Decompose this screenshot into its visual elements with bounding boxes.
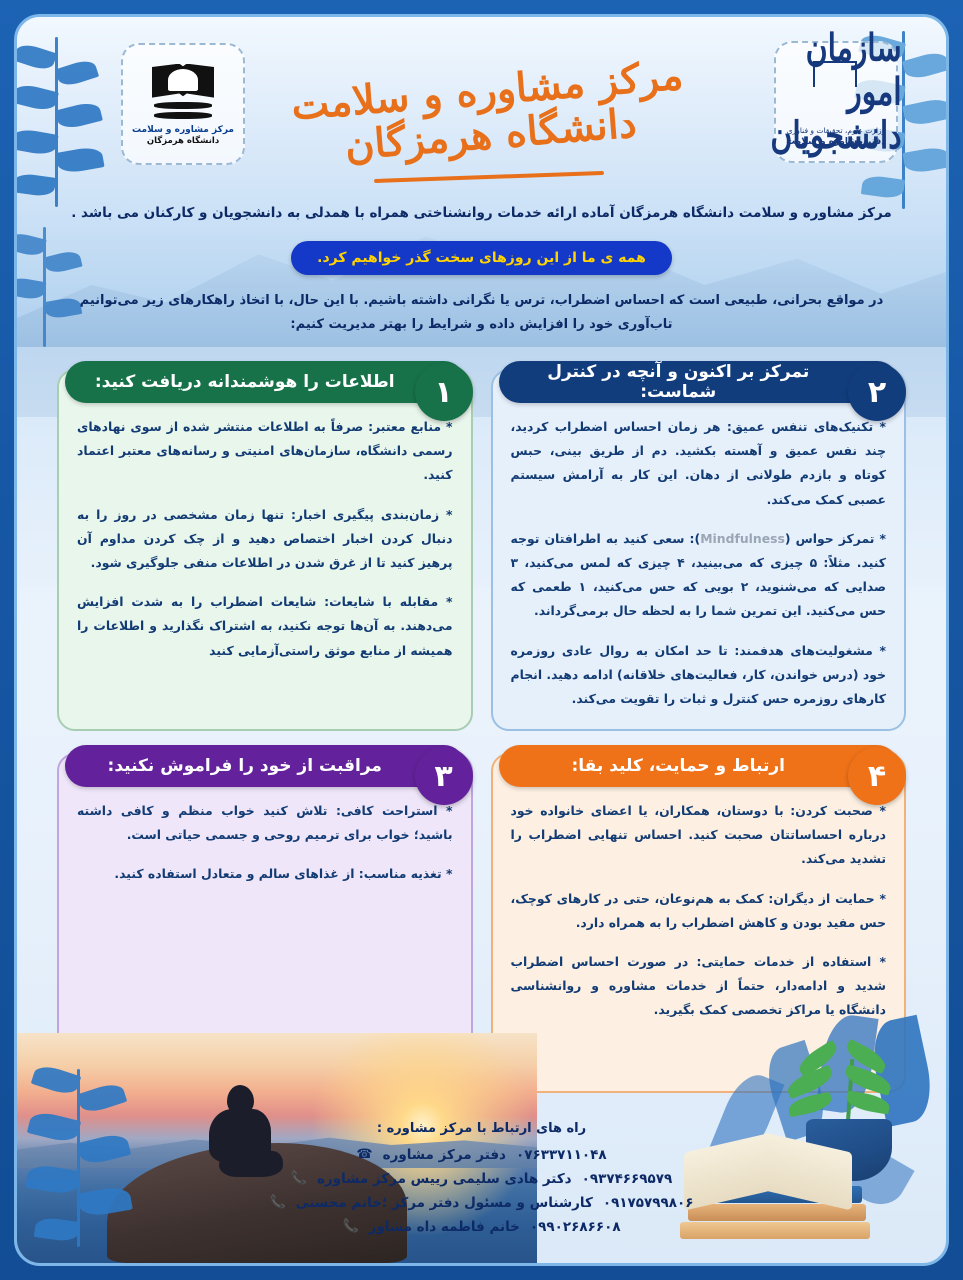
contact-phone-number[interactable]: ۰۹۳۷۴۶۶۹۵۷۹	[582, 1167, 673, 1191]
phone-handset-icon: 📞	[342, 1220, 358, 1233]
phone-handset-icon: 📞	[270, 1196, 286, 1209]
tip-card-2-paragraph-2: * تمرکز حواس (Mindfulness): سعی کنید به …	[511, 527, 887, 624]
tip-card-1-header: اطلاعات را هوشمندانه دریافت کنید:	[65, 361, 465, 403]
contact-phone-number[interactable]: ۰۹۱۷۵۷۹۹۸۰۶	[603, 1191, 694, 1215]
poster-inner-frame: مرکز مشاوره و سلامت دانشگاه هرمزگان سازم…	[14, 14, 949, 1266]
tip-card-4-paragraph-1: * صحبت کردن: با دوستان، همکاران، یا اعضا…	[511, 799, 887, 872]
contact-row: ۰۹۹۰۲۶۸۶۶۰۸ خانم فاطمه داه مشاور 📞	[57, 1215, 906, 1239]
tip-card-1-number: ۱	[415, 363, 473, 421]
contact-row: ۰۹۳۷۴۶۶۹۵۷۹ دکتر هادی سلیمی رییس مرکز مش…	[57, 1167, 906, 1191]
tips-card-grid: تمرکز بر اکنون و آنچه در کنترل شماست: ۲ …	[57, 369, 906, 1093]
tip-card-1: اطلاعات را هوشمندانه دریافت کنید: ۱ * من…	[57, 369, 473, 731]
tip-card-1-title: اطلاعات را هوشمندانه دریافت کنید:	[81, 372, 409, 392]
page-title-text: مرکز مشاوره و سلامت دانشگاه هرمزگان	[269, 52, 709, 174]
phone-handset-icon: 📞	[291, 1172, 307, 1185]
tip-card-1-paragraph-3: * مقابله با شایعات: شایعات اضطراب را به …	[77, 590, 453, 663]
tip-card-4-paragraph-3: * استفاده از خدمات حمایتی: در صورت احساس…	[511, 950, 887, 1023]
title-underline	[374, 171, 604, 183]
tip-card-3-body: * استراحت کافی: تلاش کنید خواب منظم و کا…	[77, 799, 453, 887]
latin-term: Mindfulness	[700, 531, 785, 546]
tip-card-2-number: ۲	[848, 363, 906, 421]
contact-label: خانم فاطمه داه مشاور	[369, 1215, 520, 1239]
page-title: مرکز مشاوره و سلامت دانشگاه هرمزگان	[272, 69, 706, 179]
tip-card-3-number: ۳	[415, 747, 473, 805]
intro-line-1: مرکز مشاوره و سلامت دانشگاه هرمزگان آماد…	[63, 203, 900, 225]
contact-label: دفتر مرکز مشاوره	[383, 1143, 506, 1167]
tip-card-2-title: تمرکز بر اکنون و آنچه در کنترل شماست:	[515, 362, 843, 402]
calligraphy-crest-icon: سازمان امور دانشجویان	[799, 59, 873, 125]
contact-section-title: راه های ارتباط با مرکز مشاوره :	[57, 1121, 906, 1136]
tip-card-2-paragraph-1: * تکنیک‌های تنفس عمیق: هر زمان احساس اضط…	[511, 415, 887, 512]
student-affairs-logo: سازمان امور دانشجویان وزارت علوم، تحقیقا…	[774, 41, 898, 163]
hormozgan-counseling-logo: مرکز مشاوره و سلامت دانشگاه هرمزگان	[121, 43, 245, 165]
intro-block: مرکز مشاوره و سلامت دانشگاه هرمزگان آماد…	[63, 203, 900, 337]
contact-section: راه های ارتباط با مرکز مشاوره : ۰۷۶۳۳۷۱۱…	[17, 1121, 946, 1239]
tip-card-1-paragraph-2: * زمان‌بندی پیگیری اخبار: تنها زمان مشخص…	[77, 503, 453, 576]
poster-header: مرکز مشاوره و سلامت دانشگاه هرمزگان سازم…	[17, 17, 946, 197]
contact-phone-number[interactable]: ۰۷۶۳۳۷۱۱۰۴۸	[516, 1143, 607, 1167]
tip-card-3-title: مراقبت از خود را فراموش نکنید:	[81, 756, 409, 776]
intro-body: در مواقع بحرانی، طبیعی است که احساس اضطر…	[67, 289, 897, 337]
poster-root: مرکز مشاوره و سلامت دانشگاه هرمزگان سازم…	[0, 0, 963, 1280]
tip-card-4-number: ۴	[848, 747, 906, 805]
contact-phone-number[interactable]: ۰۹۹۰۲۶۸۶۶۰۸	[530, 1215, 621, 1239]
tip-card-3-paragraph-1: * استراحت کافی: تلاش کنید خواب منظم و کا…	[77, 799, 453, 847]
open-book-crest-icon	[152, 64, 214, 120]
tip-card-1-body: * منابع معتبر: صرفاً به اطلاعات منتشر شد…	[77, 415, 453, 663]
contact-label: دکتر هادی سلیمی رییس مرکز مشاوره	[317, 1167, 572, 1191]
tip-card-2-header: تمرکز بر اکنون و آنچه در کنترل شماست:	[499, 361, 899, 403]
tip-card-4-header: ارتباط و حمایت، کلید بقا:	[499, 745, 899, 787]
logo-left-line2: دانشگاه هرمزگان	[147, 136, 219, 147]
tip-card-4-body: * صحبت کردن: با دوستان، همکاران، یا اعضا…	[511, 799, 887, 1023]
tip-card-3-paragraph-2: * تغذیه مناسب: از غذاهای سالم و متعادل ا…	[77, 862, 453, 886]
logo-left-line1: مرکز مشاوره و سلامت	[132, 125, 234, 136]
tip-card-4-title: ارتباط و حمایت، کلید بقا:	[515, 756, 843, 776]
tip-card-3-header: مراقبت از خود را فراموش نکنید:	[65, 745, 465, 787]
contact-row: ۰۹۱۷۵۷۹۹۸۰۶ کارشناس و مسئول دفتر مرکز ؛خ…	[57, 1191, 906, 1215]
tip-card-2-body: * تکنیک‌های تنفس عمیق: هر زمان احساس اضط…	[511, 415, 887, 711]
tip-card-2-paragraph-3: * مشغولیت‌های هدفمند: تا حد امکان به روا…	[511, 639, 887, 712]
logo-right-calligraphy: سازمان امور دانشجویان	[770, 26, 901, 157]
contact-row: ۰۷۶۳۳۷۱۱۰۴۸ دفتر مرکز مشاوره ☎	[57, 1143, 906, 1167]
telephone-icon: ☎	[356, 1148, 372, 1161]
tip-card-4-paragraph-2: * حمایت از دیگران: کمک به هم‌نوعان، حتی …	[511, 887, 887, 935]
contact-label: کارشناس و مسئول دفتر مرکز ؛خانم محسنی	[296, 1191, 593, 1215]
motivational-banner: همه ی ما از این روزهای سخت گذر خواهیم کر…	[291, 241, 672, 275]
tip-card-1-paragraph-1: * منابع معتبر: صرفاً به اطلاعات منتشر شد…	[77, 415, 453, 488]
tip-card-2: تمرکز بر اکنون و آنچه در کنترل شماست: ۲ …	[491, 369, 907, 731]
